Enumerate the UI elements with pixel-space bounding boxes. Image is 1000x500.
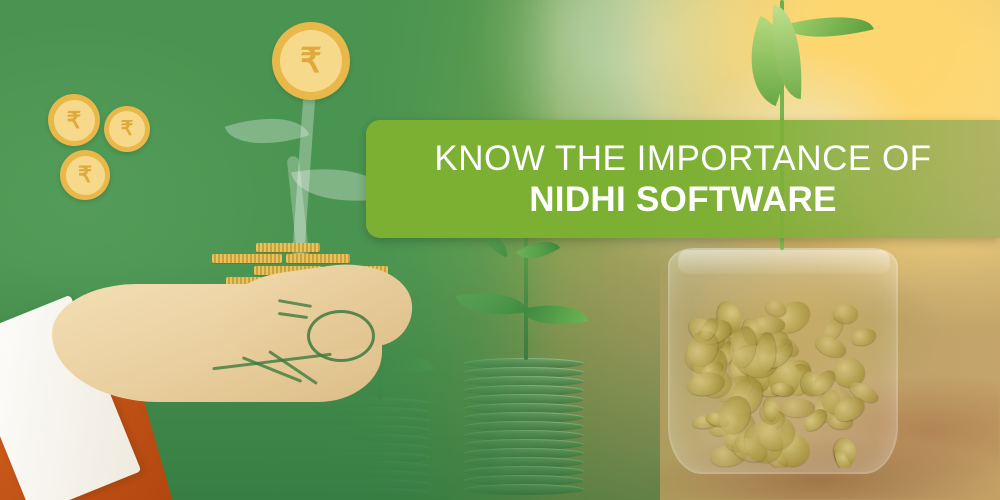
rupee-symbol-small-3: ₹ (66, 156, 105, 195)
rupee-symbol-small-1: ₹ (54, 100, 95, 141)
headline-line-2: NIDHI SOFTWARE (529, 179, 837, 220)
rupee-coin-large: ₹ (272, 22, 350, 100)
illustrated-leaf-upper-left (225, 103, 310, 159)
coin-bar-2 (212, 254, 282, 263)
rupee-coin-small-3: ₹ (60, 150, 110, 200)
rupee-symbol-small-2: ₹ (109, 111, 145, 147)
rupee-symbol-large: ₹ (280, 30, 342, 92)
coin-jar-rim (678, 250, 890, 274)
headline-line-1: KNOW THE IMPORTANCE OF (434, 138, 931, 179)
rupee-coin-small-2: ₹ (104, 106, 150, 152)
headline-panel: KNOW THE IMPORTANCE OF NIDHI SOFTWARE (366, 120, 1000, 238)
coin-bar-1 (256, 243, 320, 252)
illustrated-plant (236, 86, 386, 266)
open-hand (52, 268, 422, 416)
coin-jar-coins (682, 300, 884, 468)
rupee-coin-small-1: ₹ (48, 94, 100, 146)
coin-bar-3 (286, 254, 350, 263)
promotional-banner: ₹ ₹ ₹ ₹ KNOW THE IMPORTANCE OF NIDHI SOF… (0, 0, 1000, 500)
